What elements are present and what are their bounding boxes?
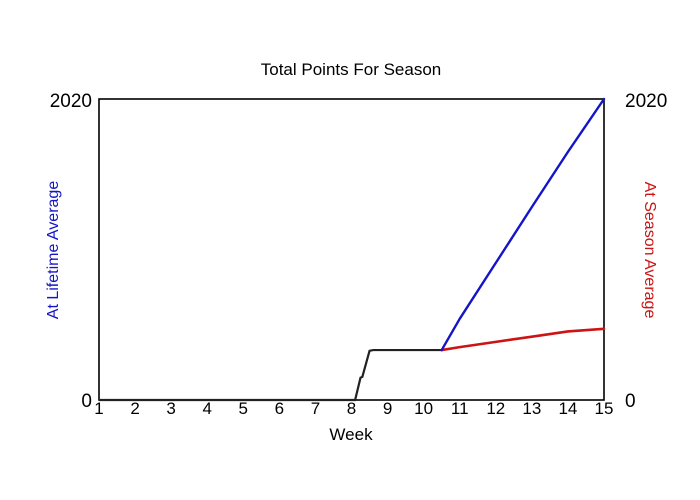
x-axis-tick-label: 7	[311, 399, 320, 418]
x-axis-tick-label: 8	[347, 399, 356, 418]
y-axis-left-tick-bottom: 0	[81, 391, 92, 412]
x-axis-tick-label: 12	[486, 399, 505, 418]
x-axis-tick-label: 14	[558, 399, 577, 418]
chart-canvas: Total Points For Season 2020 0 2020 0 12…	[0, 0, 700, 500]
x-axis-tick-label: 5	[239, 399, 248, 418]
chart-screenshot: Total Points For Season 2020 0 2020 0 12…	[0, 0, 700, 500]
x-axis-tick-label: 15	[595, 399, 614, 418]
y-axis-right-tick-bottom: 0	[625, 391, 636, 412]
x-axis-tick-label: 2	[130, 399, 139, 418]
y-axis-left-tick-top: 2020	[50, 91, 92, 112]
x-axis-tick-label: 9	[383, 399, 392, 418]
x-axis-tick-label: 6	[275, 399, 284, 418]
y-axis-right-tick-top: 2020	[625, 91, 667, 112]
y-axis-right-label: At Season Average	[641, 182, 658, 319]
x-axis-label: Week	[329, 425, 373, 444]
x-axis-tick-label: 10	[414, 399, 433, 418]
chart-title: Total Points For Season	[261, 60, 441, 79]
x-axis-tick-label: 4	[202, 399, 211, 418]
x-axis-tick-label: 11	[451, 399, 469, 418]
x-axis-tick-label: 13	[522, 399, 541, 418]
x-axis-tick-label: 3	[166, 399, 175, 418]
x-axis-tick-label: 1	[94, 399, 103, 418]
x-axis-tick-labels: 123456789101112131415	[94, 399, 613, 418]
y-axis-left-label: At Lifetime Average	[45, 181, 62, 320]
